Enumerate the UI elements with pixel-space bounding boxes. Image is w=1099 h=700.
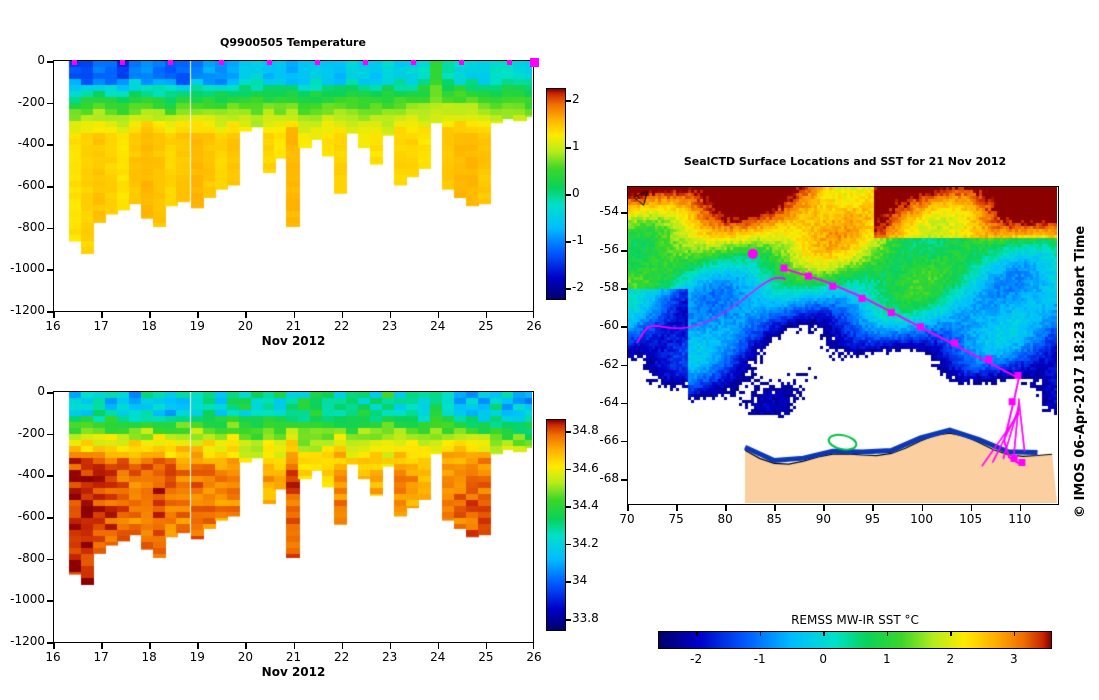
axis-tick-label: -400: [18, 467, 45, 481]
colorbar-tick-label: -2: [680, 652, 712, 666]
salinity-section-canvas: [54, 392, 532, 641]
axis-tick-label: -400: [18, 136, 45, 150]
axis-tick-label: -62: [599, 357, 619, 371]
axis-tick-label: -1200: [10, 303, 45, 317]
temperature-colorbar-gradient: [547, 89, 565, 299]
profile-marker: [459, 60, 464, 65]
axis-tick-label: 90: [807, 512, 839, 526]
axis-tick-label: 19: [183, 319, 211, 333]
map-colorbar-ticks: -2-10123: [658, 649, 1052, 671]
axis-tick-label: 16: [39, 650, 67, 664]
axis-tick-label: 18: [135, 650, 163, 664]
axis-tick-label: 75: [660, 512, 692, 526]
colorbar-tick-label: 1: [871, 652, 903, 666]
salinity-x-axis-label: Nov 2012: [0, 665, 587, 679]
temperature-profile-markers: [53, 54, 534, 62]
colorbar-tick-label: 0: [807, 652, 839, 666]
axis-tick-label: -1000: [10, 592, 45, 606]
axis-tick-label: -800: [18, 551, 45, 565]
axis-tick-label: 17: [87, 650, 115, 664]
profile-marker: [120, 60, 125, 65]
axis-tick-label: 26: [520, 319, 548, 333]
axis-tick-label: -200: [18, 95, 45, 109]
axis-tick-label: -600: [18, 509, 45, 523]
salinity-colorbar-gradient: [547, 420, 565, 630]
axis-tick-label: -68: [599, 471, 619, 485]
axis-tick-label: 85: [758, 512, 790, 526]
salinity-x-axis: 1617181920212223242526: [53, 643, 534, 665]
salinity-colorbar: [546, 419, 566, 631]
axis-tick-label: 105: [955, 512, 987, 526]
map-x-axis: 707580859095100105110: [627, 505, 1059, 527]
axis-tick-label: 16: [39, 319, 67, 333]
colorbar-tick-label: 34: [572, 573, 587, 587]
axis-tick-label: 24: [424, 650, 452, 664]
axis-tick-label: -66: [599, 433, 619, 447]
axis-tick-label: 70: [611, 512, 643, 526]
colorbar-tick-label: -1: [744, 652, 776, 666]
axis-tick-label: 100: [906, 512, 938, 526]
map-colorbar-label: REMSS MW-IR SST °C: [655, 613, 1055, 627]
profile-marker: [267, 60, 272, 65]
axis-tick-label: 20: [231, 650, 259, 664]
axis-tick-label: 26: [520, 650, 548, 664]
colorbar-tick-label: 1: [572, 139, 580, 153]
colorbar-tick-label: 2: [934, 652, 966, 666]
colorbar-tick-label: 3: [998, 652, 1030, 666]
axis-tick-label: -800: [18, 220, 45, 234]
axis-tick-label: -56: [599, 242, 619, 256]
colorbar-tick-label: 33.8: [572, 611, 599, 625]
axis-tick-label: 0: [37, 53, 45, 67]
temperature-y-axis: 0-200-400-600-800-1000-1200: [0, 60, 53, 312]
colorbar-tick-label: 34.2: [572, 536, 599, 550]
axis-tick-label: -64: [599, 395, 619, 409]
profile-marker: [168, 60, 173, 65]
temperature-plot-frame: [53, 60, 534, 312]
axis-tick-label: 17: [87, 319, 115, 333]
axis-tick-label: 21: [280, 319, 308, 333]
temperature-x-axis: 1617181920212223242526: [53, 312, 534, 334]
salinity-y-axis: 0-200-400-600-800-1000-1200: [0, 391, 53, 643]
axis-tick-label: 21: [280, 650, 308, 664]
temperature-section-canvas: [54, 61, 532, 310]
profile-marker: [363, 60, 368, 65]
axis-tick-label: 19: [183, 650, 211, 664]
axis-tick-label: -600: [18, 178, 45, 192]
axis-tick-label: -60: [599, 318, 619, 332]
axis-tick-label: 110: [1004, 512, 1036, 526]
axis-tick-label: 25: [472, 650, 500, 664]
profile-marker: [219, 60, 224, 65]
axis-tick-label: 80: [709, 512, 741, 526]
imos-credit: © IMOS 06-Apr-2017 18:23 Hobart Time: [1073, 226, 1088, 518]
axis-tick-label: 95: [856, 512, 888, 526]
axis-tick-label: 0: [37, 384, 45, 398]
axis-tick-label: 22: [328, 319, 356, 333]
axis-tick-label: -200: [18, 426, 45, 440]
axis-tick-label: 22: [328, 650, 356, 664]
profile-marker: [507, 60, 512, 65]
axis-tick-label: 24: [424, 319, 452, 333]
map-panel-title: SealCTD Surface Locations and SST for 21…: [630, 155, 1060, 168]
axis-tick-label: -1000: [10, 261, 45, 275]
temperature-x-axis-label: Nov 2012: [0, 334, 587, 348]
axis-tick-label: -1200: [10, 634, 45, 648]
axis-tick-label: -54: [599, 204, 619, 218]
profile-marker: [72, 60, 77, 65]
profile-marker: [530, 58, 539, 67]
profile-marker: [411, 60, 416, 65]
temperature-colorbar: [546, 88, 566, 300]
sst-map-canvas: [628, 187, 1057, 503]
axis-tick-label: 23: [376, 650, 404, 664]
temperature-panel-title: Q9900505 Temperature: [153, 36, 433, 49]
map-colorbar-gradient: [659, 632, 1051, 648]
axis-tick-label: 25: [472, 319, 500, 333]
axis-tick-label: -58: [599, 280, 619, 294]
axis-tick-label: 23: [376, 319, 404, 333]
colorbar-tick-label: 2: [572, 92, 580, 106]
axis-tick-label: 20: [231, 319, 259, 333]
map-plot-frame: [627, 186, 1059, 505]
map-colorbar: [658, 631, 1052, 649]
salinity-plot-frame: [53, 391, 534, 643]
profile-marker: [315, 60, 320, 65]
map-y-axis: -54-56-58-60-62-64-66-68: [575, 186, 627, 505]
axis-tick-label: 18: [135, 319, 163, 333]
